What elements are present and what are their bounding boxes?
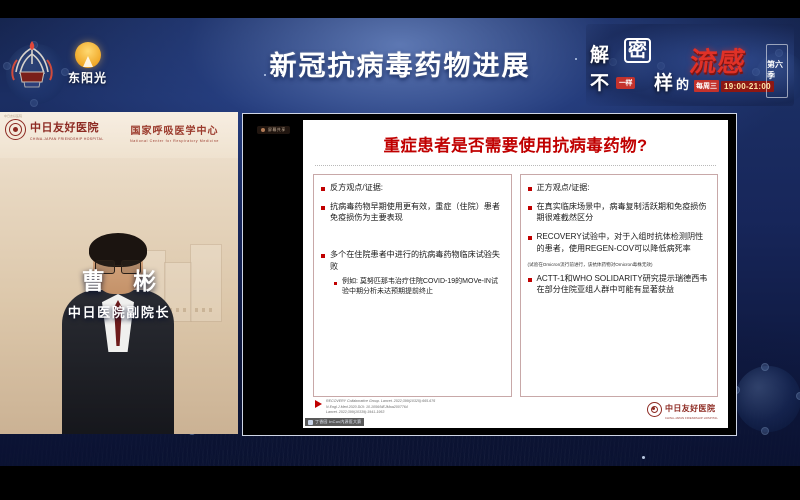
letterbox-bottom — [0, 466, 800, 500]
bullet-item: 反方观点/证据: — [321, 182, 504, 194]
bullet-text: 多个在住院患者中进行的抗病毒药物临床试验失败 — [330, 249, 504, 272]
brand-word-jie: 解 — [590, 40, 609, 67]
speaker-name: 曹 彬 — [0, 262, 238, 296]
program-brand: 解 密 不 一样 样 的 流感 每周三 19:00-21:00 第六季 — [586, 24, 794, 106]
bullet-square-icon — [321, 187, 325, 191]
hospital-name-cn: 中日友好医院 — [30, 122, 99, 134]
slide-watermark: 丁香园 InCov内源医大赛 — [305, 418, 364, 426]
footer-logo-cn: 中日友好医院 — [665, 404, 715, 413]
brand-word-yang: 样 — [654, 68, 673, 95]
speaker-nameplate: 曹 彬 中日医院副院长 — [0, 262, 238, 321]
footer-logo-en: CHINA-JAPAN FRIENDSHIP HOSPITAL — [665, 417, 718, 420]
bullet-item: ACTT-1和WHO SOLIDARITY研究提示瑞德西韦在部分住院亚组人群中可… — [528, 273, 711, 296]
bullet-text: RECOVERY试验中，对于入组时抗体检测阴性的患者，使用REGEN-COV可以… — [537, 231, 711, 254]
watermark-text: 丁香园 InCov内源医大赛 — [315, 419, 361, 425]
share-dot-icon — [261, 128, 265, 132]
brand-word-yiyang: 一样 — [616, 77, 635, 89]
bullet-text: 抗病毒药物早期使用更有效，重症（住院）患者免疫损伤为主要表现 — [330, 201, 504, 224]
schedule-badge: 每周三 19:00-21:00 — [694, 80, 774, 92]
watermark-icon — [308, 420, 313, 425]
reference-list: RECOVERY Collaborative Group. Lancet. 20… — [326, 399, 435, 416]
sponsor-logo-group: 东阳光 — [8, 38, 107, 90]
hospital-banner: 中日友好医院 中日友好医院 CHINA-JAPAN FRIENDSHIP HOS… — [0, 112, 238, 158]
bullet-item: 正方观点/证据: — [528, 182, 711, 194]
bullet-square-icon — [528, 236, 532, 240]
dongyangguang-logo: 东阳光 — [68, 42, 107, 86]
slide-title: 重症患者是否需要使用抗病毒药物? — [313, 132, 718, 156]
bullet-square-icon — [528, 278, 532, 282]
share-label-text: 屏幕共享 — [268, 127, 286, 133]
bullet-text: 反方观点/证据: — [330, 182, 383, 194]
schedule-day: 每周三 — [694, 80, 719, 92]
center-name-cn: 国家呼吸医学中心 — [130, 122, 219, 137]
bullet-item: RECOVERY试验中，对于入组时抗体检测阴性的患者，使用REGEN-COV可以… — [528, 231, 711, 254]
hospital-logo: 中日友好医院 CHINA-JAPAN FRIENDSHIP HOSPITAL — [5, 118, 104, 141]
bullet-item: 在真实临床场景中，病毒复制活跃期和免疫损伤期很难截然区分 — [528, 201, 711, 224]
sponsor-name: 东阳光 — [68, 69, 107, 86]
spacer — [321, 231, 504, 249]
slide-columns: 反方观点/证据: 抗病毒药物早期使用更有效，重症（住院）患者免疫损伤为主要表现 … — [313, 174, 718, 397]
bullet-square-icon — [528, 187, 532, 191]
phoenix-emblem-icon — [8, 38, 56, 90]
sunrise-icon — [75, 42, 101, 68]
slide-references: RECOVERY Collaborative Group. Lancet. 20… — [315, 399, 435, 416]
hospital-seal-icon — [5, 119, 26, 140]
sparkle — [642, 456, 645, 459]
season-badge: 第六季 — [766, 44, 788, 98]
center-name-en: National Center for Respiratory Medicine — [130, 139, 219, 143]
bullet-text: ACTT-1和WHO SOLIDARITY研究提示瑞德西韦在部分住院亚组人群中可… — [537, 273, 711, 296]
bullet-square-icon — [321, 254, 325, 258]
page-title: 新冠抗病毒药物进展 — [250, 44, 550, 83]
respiratory-center-logo: 国家呼吸医学中心 National Center for Respiratory… — [130, 122, 219, 143]
bullet-square-icon — [334, 282, 337, 285]
bullet-item: 抗病毒药物早期使用更有效，重症（住院）患者免疫损伤为主要表现 — [321, 201, 504, 224]
hospital-name-en: CHINA-JAPAN FRIENDSHIP HOSPITAL — [30, 137, 104, 141]
screen-share-label: 屏幕共享 — [257, 126, 290, 134]
slide-column-con: 反方观点/证据: 抗病毒药物早期使用更有效，重症（住院）患者免疫损伤为主要表现 … — [313, 174, 512, 397]
brand-highlight-liugan: 流感 — [688, 40, 749, 79]
brand-word-bu: 不 — [590, 68, 609, 95]
sub-bullet-item: 例如: 莫努匹那韦治疗住院COVID-19的MOVe-IN试验中期分析未达预期提… — [334, 277, 504, 297]
bullet-square-icon — [528, 206, 532, 210]
sub-bullet-text: 例如: 莫努匹那韦治疗住院COVID-19的MOVe-IN试验中期分析未达预期提… — [342, 277, 504, 297]
broadcast-screen: 新冠抗病毒药物进展 东阳光 — [0, 0, 800, 500]
reference-line: Lancet. 2022;399(10339):1941-1953 — [326, 410, 435, 416]
slide-column-pro: 正方观点/证据: 在真实临床场景中，病毒复制活跃期和免疫损伤期很难截然区分 RE… — [520, 174, 719, 397]
speaker-title: 中日医院副院长 — [0, 302, 238, 321]
bullet-text: 在真实临床场景中，病毒复制活跃期和免疫损伤期很难截然区分 — [537, 201, 711, 224]
bullet-text: 正方观点/证据: — [537, 182, 590, 194]
letterbox-top — [0, 0, 800, 18]
reference-arrow-icon — [315, 400, 322, 408]
slide-footer-logo: 中日友好医院 CHINA-JAPAN FRIENDSHIP HOSPITAL — [647, 398, 718, 420]
shared-slide-panel[interactable]: 屏幕共享 重症患者是否需要使用抗病毒药物? 反方观点/证据: 抗病毒药物早期使用… — [242, 113, 737, 436]
hospital-seal-icon — [647, 402, 662, 417]
slide-content: 重症患者是否需要使用抗病毒药物? 反方观点/证据: 抗病毒药物早期使用更有效，重… — [303, 120, 728, 428]
slide-divider — [315, 165, 716, 166]
virus-particle — [735, 366, 800, 432]
bullet-item: 多个在住院患者中进行的抗病毒药物临床试验失败 — [321, 249, 504, 272]
bullet-square-icon — [321, 206, 325, 210]
brand-word-mi: 密 — [624, 38, 651, 63]
sparkle — [575, 58, 577, 60]
